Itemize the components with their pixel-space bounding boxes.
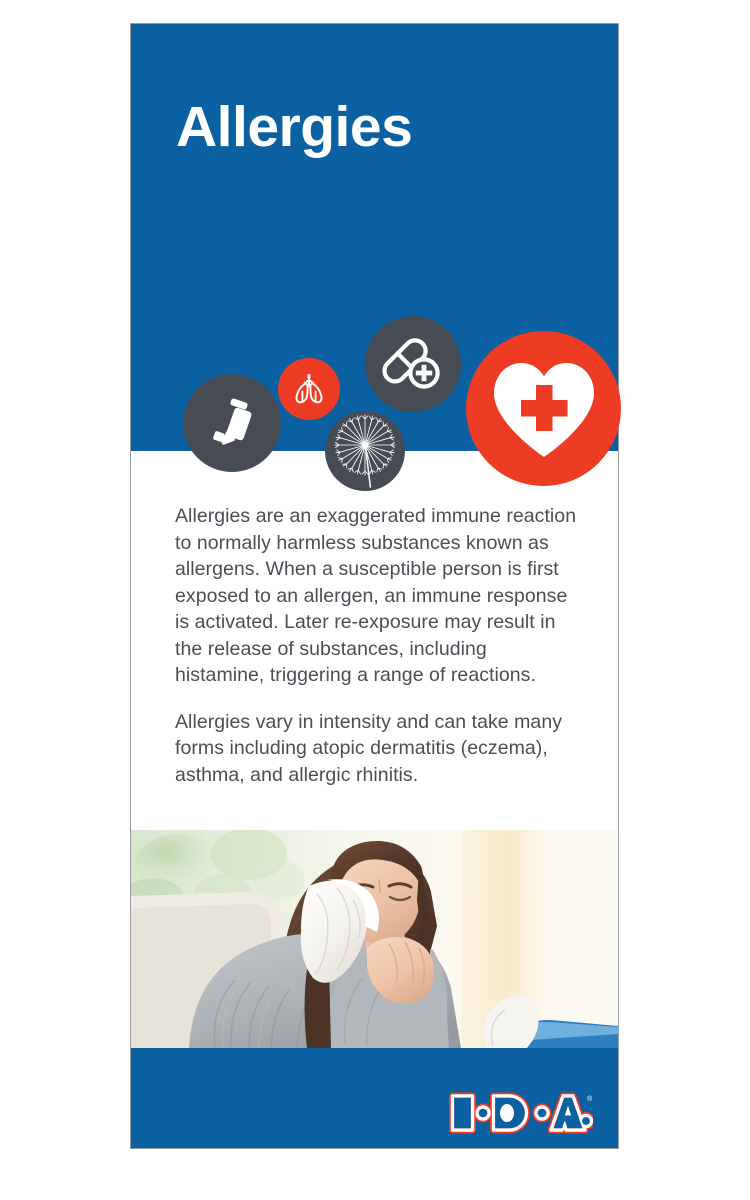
dandelion-icon — [325, 411, 405, 491]
inhaler-icon — [183, 374, 281, 472]
heart-cross-icon — [466, 331, 621, 486]
footer-band: ® — [131, 1048, 618, 1148]
woman-sneezing-into-tissue-photo — [131, 830, 618, 1048]
page-title: Allergies — [176, 98, 412, 158]
lungs-icon — [278, 358, 340, 420]
allergies-info-card: Allergies — [131, 24, 618, 1148]
paragraph-definition: Allergies are an exaggerated immune reac… — [175, 503, 579, 689]
pills-icon — [365, 316, 461, 412]
paragraph-forms: Allergies vary in intensity and can take… — [175, 709, 579, 789]
ida-logo[interactable]: ® — [447, 1089, 593, 1139]
logo-trademark: ® — [587, 1095, 593, 1103]
body-copy: Allergies are an exaggerated immune reac… — [175, 503, 579, 788]
